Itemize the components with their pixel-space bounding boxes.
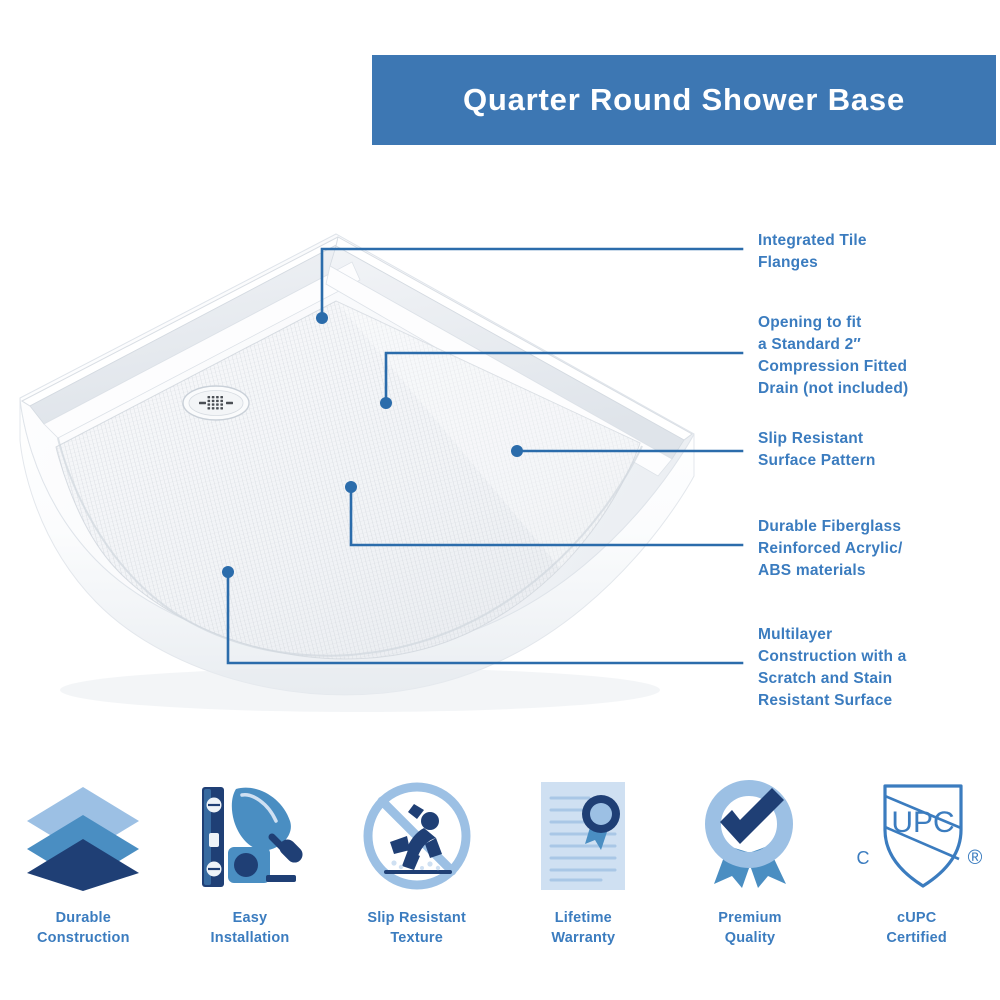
- title-banner: Quarter Round Shower Base: [372, 55, 996, 145]
- feature-label-durable-construction: Durable Construction: [37, 909, 130, 948]
- feature-cupc-certified: UPC C ® cUPC Certified: [833, 775, 1000, 975]
- cupc-registered-mark: ®: [967, 847, 982, 869]
- product-shadow: [60, 668, 660, 712]
- cupc-left-mark: C: [856, 848, 869, 868]
- feature-lifetime-warranty: Lifetime Warranty: [500, 775, 667, 975]
- no-slip-icon: [358, 775, 476, 897]
- callout-label-durable-materials: Durable Fiberglass Reinforced Acrylic/ A…: [758, 516, 903, 582]
- rosette-check-icon: [692, 775, 808, 897]
- feature-easy-installation: Easy Installation: [167, 775, 334, 975]
- feature-label-slip-resistant: Slip Resistant Texture: [367, 909, 466, 948]
- upc-shield-icon: UPC C ®: [849, 775, 985, 897]
- tools-icon: [190, 775, 310, 897]
- callout-label-multilayer-construction: Multilayer Construction with a Scratch a…: [758, 624, 906, 712]
- feature-label-cupc-certified: cUPC Certified: [886, 909, 947, 948]
- feature-label-premium-quality: Premium Quality: [718, 909, 781, 948]
- layers-icon: [23, 775, 143, 897]
- feature-premium-quality: Premium Quality: [667, 775, 834, 975]
- feature-label-easy-installation: Easy Installation: [211, 909, 290, 948]
- feature-durable-construction: Durable Construction: [0, 775, 167, 975]
- certificate-icon: [531, 775, 635, 897]
- callout-label-drain-opening: Opening to fit a Standard 2″ Compression…: [758, 312, 908, 400]
- callout-label-integrated-tile-flanges: Integrated Tile Flanges: [758, 230, 867, 274]
- feature-badges-row: Durable Construction: [0, 775, 1000, 975]
- page-title: Quarter Round Shower Base: [463, 82, 905, 118]
- product-illustration: [0, 170, 760, 730]
- upc-shield-text: UPC: [891, 806, 954, 839]
- drain-grate: [183, 386, 249, 420]
- feature-slip-resistant: Slip Resistant Texture: [333, 775, 500, 975]
- feature-label-lifetime-warranty: Lifetime Warranty: [551, 909, 615, 948]
- callout-label-slip-resistant-surface-pattern: Slip Resistant Surface Pattern: [758, 428, 876, 472]
